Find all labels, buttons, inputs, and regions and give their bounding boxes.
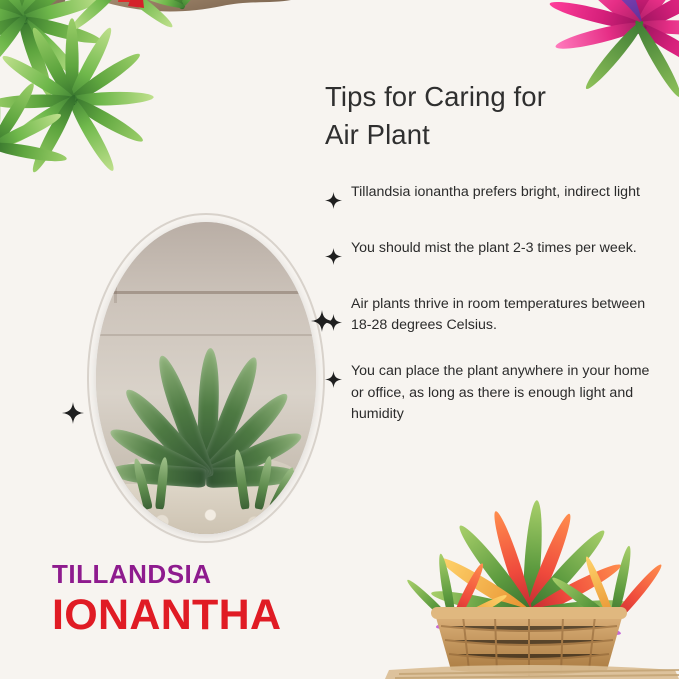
tips-content: Tips for Caring for Air Plant Tillandsia…	[325, 78, 655, 448]
four-point-star-icon	[325, 371, 351, 393]
green-air-plant-cluster-icon	[0, 0, 320, 240]
brand-line-1: TILLANDSIA	[52, 559, 281, 590]
four-point-star-icon	[325, 192, 351, 214]
page-title-line-2: Air Plant	[325, 119, 430, 150]
poster-canvas: Tips for Caring for Air Plant Tillandsia…	[0, 0, 679, 679]
bottom-right-plant-cluster	[379, 464, 679, 679]
tips-list: Tillandsia ionantha prefers bright, indi…	[325, 180, 655, 426]
list-item: Air plants thrive in room temperatures b…	[325, 292, 655, 337]
brand-title: TILLANDSIA IONANTHA	[52, 559, 281, 637]
blooming-tillandsia-icon	[379, 464, 679, 679]
list-item: You can place the plant anywhere in your…	[325, 359, 655, 426]
tip-text: Air plants thrive in room temperatures b…	[351, 292, 655, 337]
list-item: Tillandsia ionantha prefers bright, indi…	[325, 180, 655, 214]
oval-frame-ring	[87, 213, 325, 543]
four-point-star-icon	[325, 248, 351, 270]
four-point-star-icon	[325, 314, 351, 336]
page-title: Tips for Caring for Air Plant	[325, 78, 655, 154]
brand-line-2: IONANTHA	[52, 594, 281, 637]
sparkle-star-left-icon	[62, 402, 84, 424]
list-item: You should mist the plant 2-3 times per …	[325, 236, 655, 270]
tip-text: You can place the plant anywhere in your…	[351, 359, 655, 426]
oval-photo-frame	[96, 222, 316, 534]
tip-text: Tillandsia ionantha prefers bright, indi…	[351, 180, 640, 204]
page-title-line-1: Tips for Caring for	[325, 81, 546, 112]
tip-text: You should mist the plant 2-3 times per …	[351, 236, 637, 260]
top-left-plant-cluster	[0, 0, 320, 240]
